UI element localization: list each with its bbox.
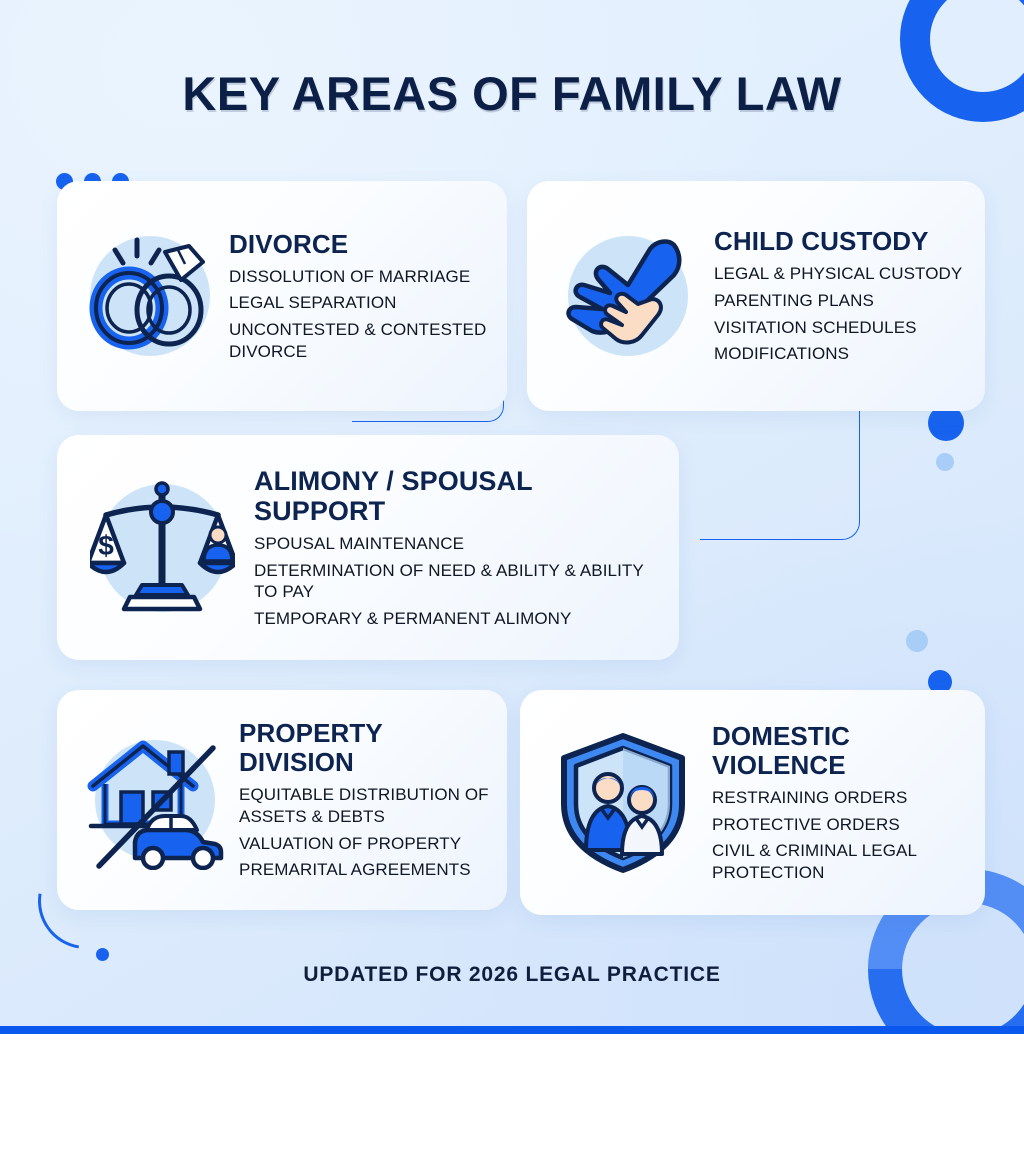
list-item: RESTRAINING ORDERS (712, 787, 967, 809)
holding-hands-icon (545, 214, 710, 379)
card-bullets: DISSOLUTION OF MARRIAGE LEGAL SEPARATION… (229, 266, 489, 362)
list-item: MODIFICATIONS (714, 343, 967, 365)
footer-note: UPDATED FOR 2026 LEGAL PRACTICE (0, 963, 1024, 987)
list-item: DISSOLUTION OF MARRIAGE (229, 266, 489, 288)
card-child-custody[interactable]: CHILD CUSTODY LEGAL & PHYSICAL CUSTODY P… (527, 181, 985, 411)
wedding-rings-icon (75, 221, 225, 371)
list-item: EQUITABLE DISTRIBUTION OF ASSETS & DEBTS (239, 784, 489, 827)
list-item: DETERMINATION OF NEED & ABILITY & ABILIT… (254, 560, 661, 603)
card-bullets: SPOUSAL MAINTENANCE DETERMINATION OF NEE… (254, 533, 661, 629)
card-domestic-violence[interactable]: DOMESTIC VIOLENCE RESTRAINING ORDERS PRO… (520, 690, 985, 915)
card-text: DIVORCE DISSOLUTION OF MARRIAGE LEGAL SE… (225, 230, 489, 362)
shield-family-icon (538, 718, 708, 888)
card-divorce[interactable]: DIVORCE DISSOLUTION OF MARRIAGE LEGAL SE… (57, 181, 507, 411)
list-item: CIVIL & CRIMINAL LEGAL PROTECTION (712, 840, 967, 883)
card-bullets: RESTRAINING ORDERS PROTECTIVE ORDERS CIV… (712, 787, 967, 883)
list-item: PARENTING PLANS (714, 290, 967, 312)
card-bullets: EQUITABLE DISTRIBUTION OF ASSETS & DEBTS… (239, 784, 489, 880)
card-title: CHILD CUSTODY (714, 227, 967, 256)
list-item: SPOUSAL MAINTENANCE (254, 533, 661, 555)
page-title: KEY AREAS OF FAMILY LAW (0, 66, 1024, 121)
poster-stage: KEY AREAS OF FAMILY LAW (0, 0, 1024, 1027)
list-item: VALUATION OF PROPERTY (239, 833, 489, 855)
card-text: PROPERTY DIVISION EQUITABLE DISTRIBUTION… (235, 719, 489, 881)
card-title: ALIMONY / SPOUSAL SUPPORT (254, 466, 661, 526)
card-text: ALIMONY / SPOUSAL SUPPORT SPOUSAL MAINTE… (250, 466, 661, 630)
list-item: TEMPORARY & PERMANENT ALIMONY (254, 608, 661, 630)
card-bullets: LEGAL & PHYSICAL CUSTODY PARENTING PLANS… (714, 263, 967, 364)
card-property-division[interactable]: PROPERTY DIVISION EQUITABLE DISTRIBUTION… (57, 690, 507, 910)
card-text: DOMESTIC VIOLENCE RESTRAINING ORDERS PRO… (708, 722, 967, 884)
dot-right-small-light (936, 453, 954, 471)
list-item: UNCONTESTED & CONTESTED DIVORCE (229, 319, 489, 362)
house-car-split-icon (75, 720, 235, 880)
list-item: LEGAL SEPARATION (229, 292, 489, 314)
list-item: PREMARITAL AGREEMENTS (239, 859, 489, 881)
list-item: PROTECTIVE ORDERS (712, 814, 967, 836)
card-text: CHILD CUSTODY LEGAL & PHYSICAL CUSTODY P… (710, 227, 967, 364)
card-alimony-spousal-support[interactable]: $ ALIMONY / SPOUSAL SUPPORT SPOUSAL MAIN… (57, 435, 679, 660)
card-title: DIVORCE (229, 230, 489, 259)
bottom-accent-bar (0, 1026, 1024, 1034)
list-item: VISITATION SCHEDULES (714, 317, 967, 339)
dot-bottom-left (96, 948, 109, 961)
card-title: PROPERTY DIVISION (239, 719, 489, 777)
list-item: LEGAL & PHYSICAL CUSTODY (714, 263, 967, 285)
svg-text:$: $ (98, 530, 114, 561)
balance-scale-icon: $ (75, 460, 250, 635)
infographic-poster: KEY AREAS OF FAMILY LAW (0, 0, 1024, 1154)
dot-right-mid-light (906, 630, 928, 652)
card-title: DOMESTIC VIOLENCE (712, 722, 967, 780)
